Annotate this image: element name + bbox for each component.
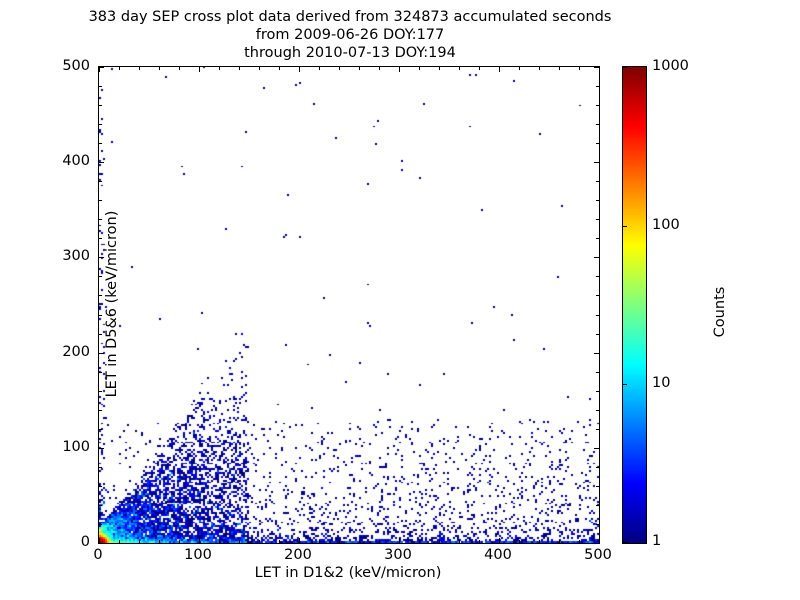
y-minor-tick-right bbox=[596, 524, 599, 525]
x-minor-tick-top bbox=[179, 67, 180, 70]
y-minor-tick-right bbox=[596, 410, 599, 411]
y-major-tick bbox=[99, 543, 104, 544]
x-tick-label: 200 bbox=[268, 548, 328, 563]
y-minor-tick bbox=[99, 295, 102, 296]
colorbar-tick-label: 100 bbox=[652, 218, 680, 233]
x-minor-tick bbox=[419, 540, 420, 543]
y-minor-tick bbox=[99, 410, 102, 411]
x-minor-tick bbox=[379, 540, 380, 543]
y-minor-tick bbox=[99, 219, 102, 220]
page-title: 383 day SEP cross plot data derived from… bbox=[0, 8, 700, 62]
x-major-tick-top bbox=[599, 67, 600, 72]
x-major-tick bbox=[499, 538, 500, 543]
y-tick-label: 300 bbox=[30, 249, 90, 264]
y-major-tick-right bbox=[594, 67, 599, 68]
y-minor-tick bbox=[99, 505, 102, 506]
x-minor-tick bbox=[339, 540, 340, 543]
y-tick-label: 400 bbox=[30, 154, 90, 169]
y-minor-tick-right bbox=[596, 105, 599, 106]
x-minor-tick bbox=[559, 540, 560, 543]
x-minor-tick bbox=[439, 540, 440, 543]
colorbar-tick bbox=[622, 384, 627, 385]
x-minor-tick bbox=[459, 540, 460, 543]
x-minor-tick bbox=[539, 540, 540, 543]
x-tick-label: 0 bbox=[68, 548, 128, 563]
y-minor-tick bbox=[99, 524, 102, 525]
plot-area bbox=[98, 66, 600, 544]
x-major-tick bbox=[299, 538, 300, 543]
y-minor-tick bbox=[99, 315, 102, 316]
y-minor-tick-right bbox=[596, 467, 599, 468]
y-minor-tick-right bbox=[596, 143, 599, 144]
y-minor-tick-right bbox=[596, 505, 599, 506]
x-major-tick-top bbox=[399, 67, 400, 72]
x-minor-tick-top bbox=[559, 67, 560, 70]
y-minor-tick-right bbox=[596, 334, 599, 335]
y-minor-tick-right bbox=[596, 124, 599, 125]
x-minor-tick-top bbox=[459, 67, 460, 70]
y-major-tick-right bbox=[594, 353, 599, 354]
y-minor-tick-right bbox=[596, 295, 599, 296]
x-major-tick-top bbox=[499, 67, 500, 72]
y-minor-tick-right bbox=[596, 219, 599, 220]
x-minor-tick-top bbox=[519, 67, 520, 70]
x-minor-tick bbox=[359, 540, 360, 543]
x-minor-tick bbox=[519, 540, 520, 543]
y-minor-tick-right bbox=[596, 276, 599, 277]
x-minor-tick-top bbox=[279, 67, 280, 70]
y-major-tick-right bbox=[594, 448, 599, 449]
colorbar-tick bbox=[622, 67, 627, 68]
x-minor-tick-top bbox=[259, 67, 260, 70]
y-minor-tick-right bbox=[596, 372, 599, 373]
colorbar-title: Counts bbox=[712, 212, 728, 412]
y-minor-tick-right bbox=[596, 486, 599, 487]
scatter-density-canvas bbox=[99, 67, 599, 543]
y-major-tick-right bbox=[594, 162, 599, 163]
x-minor-tick-top bbox=[359, 67, 360, 70]
title-line-1: 383 day SEP cross plot data derived from… bbox=[0, 8, 700, 26]
title-line-2: from 2009-06-26 DOY:177 bbox=[0, 26, 700, 44]
x-minor-tick-top bbox=[419, 67, 420, 70]
y-minor-tick bbox=[99, 143, 102, 144]
colorbar-tick-label: 1 bbox=[652, 534, 661, 549]
y-minor-tick bbox=[99, 467, 102, 468]
y-minor-tick-right bbox=[596, 429, 599, 430]
x-minor-tick-top bbox=[319, 67, 320, 70]
matplotlib-figure: 383 day SEP cross plot data derived from… bbox=[0, 0, 800, 600]
y-axis-title: LET in D5&6 (keV/micron) bbox=[104, 66, 120, 542]
x-tick-label: 100 bbox=[168, 548, 228, 563]
x-minor-tick bbox=[319, 540, 320, 543]
y-minor-tick bbox=[99, 181, 102, 182]
y-minor-tick bbox=[99, 334, 102, 335]
y-minor-tick bbox=[99, 276, 102, 277]
colorbar-gradient bbox=[623, 67, 646, 543]
x-minor-tick-top bbox=[139, 67, 140, 70]
x-minor-tick bbox=[159, 540, 160, 543]
y-tick-label: 500 bbox=[30, 59, 90, 74]
x-major-tick bbox=[199, 538, 200, 543]
x-minor-tick-top bbox=[439, 67, 440, 70]
x-minor-tick bbox=[179, 540, 180, 543]
x-minor-tick-top bbox=[239, 67, 240, 70]
y-minor-tick bbox=[99, 86, 102, 87]
x-minor-tick-top bbox=[379, 67, 380, 70]
x-minor-tick-top bbox=[579, 67, 580, 70]
x-minor-tick-top bbox=[159, 67, 160, 70]
x-tick-label: 400 bbox=[468, 548, 528, 563]
colorbar-tick-label: 10 bbox=[652, 376, 670, 391]
x-tick-label: 500 bbox=[568, 548, 628, 563]
x-minor-tick-top bbox=[539, 67, 540, 70]
x-axis-title: LET in D1&2 (keV/micron) bbox=[98, 565, 598, 581]
y-minor-tick bbox=[99, 429, 102, 430]
y-minor-tick-right bbox=[596, 315, 599, 316]
y-tick-label: 200 bbox=[30, 345, 90, 360]
y-minor-tick bbox=[99, 486, 102, 487]
y-minor-tick-right bbox=[596, 86, 599, 87]
colorbar-tick-label: 1000 bbox=[652, 59, 689, 74]
x-minor-tick bbox=[139, 540, 140, 543]
x-minor-tick-top bbox=[339, 67, 340, 70]
x-minor-tick bbox=[279, 540, 280, 543]
y-minor-tick bbox=[99, 105, 102, 106]
y-minor-tick-right bbox=[596, 181, 599, 182]
x-tick-label: 300 bbox=[368, 548, 428, 563]
x-minor-tick bbox=[479, 540, 480, 543]
x-major-tick bbox=[399, 538, 400, 543]
y-minor-tick-right bbox=[596, 200, 599, 201]
y-minor-tick bbox=[99, 238, 102, 239]
y-tick-label: 100 bbox=[30, 440, 90, 455]
colorbar bbox=[622, 66, 647, 544]
title-line-3: through 2010-07-13 DOY:194 bbox=[0, 44, 700, 62]
x-minor-tick bbox=[219, 540, 220, 543]
y-minor-tick-right bbox=[596, 238, 599, 239]
y-minor-tick bbox=[99, 391, 102, 392]
x-minor-tick bbox=[579, 540, 580, 543]
x-major-tick-top bbox=[299, 67, 300, 72]
x-major-tick-top bbox=[199, 67, 200, 72]
colorbar-tick bbox=[622, 226, 627, 227]
x-minor-tick-top bbox=[479, 67, 480, 70]
x-minor-tick bbox=[239, 540, 240, 543]
y-minor-tick bbox=[99, 372, 102, 373]
y-minor-tick-right bbox=[596, 391, 599, 392]
x-minor-tick-top bbox=[219, 67, 220, 70]
y-major-tick-right bbox=[594, 543, 599, 544]
y-minor-tick bbox=[99, 124, 102, 125]
x-major-tick bbox=[599, 538, 600, 543]
colorbar-tick bbox=[622, 542, 627, 543]
y-minor-tick bbox=[99, 200, 102, 201]
x-minor-tick bbox=[259, 540, 260, 543]
y-major-tick-right bbox=[594, 257, 599, 258]
